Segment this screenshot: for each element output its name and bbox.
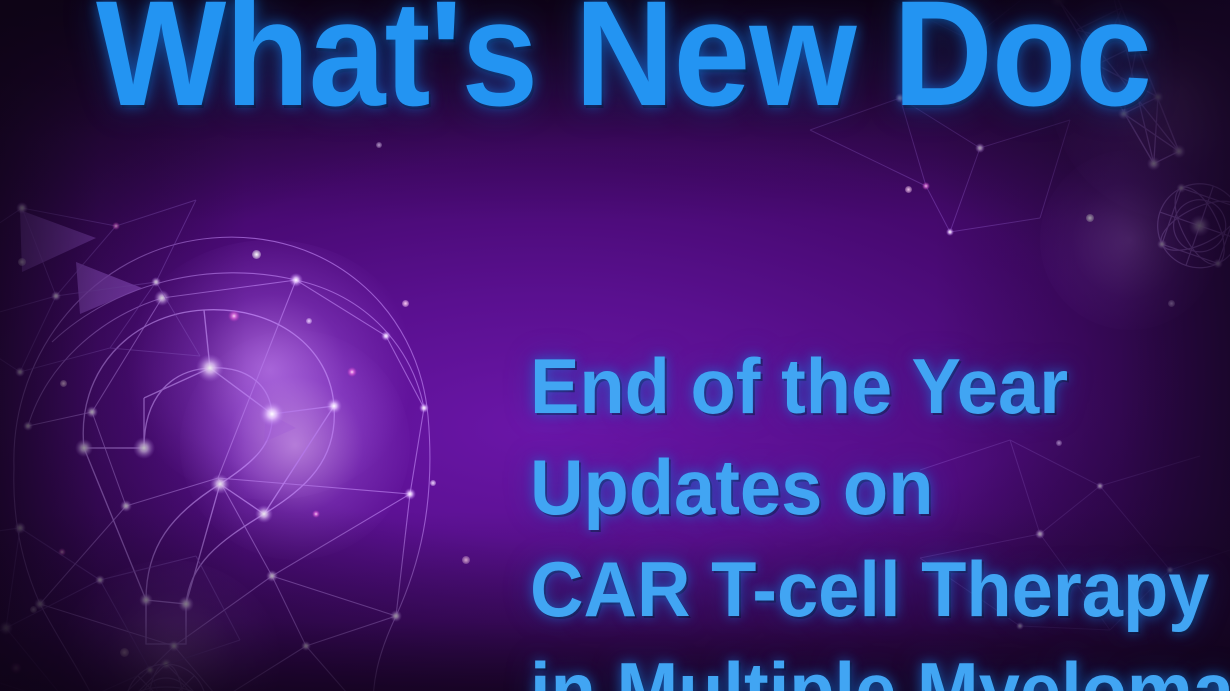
subtitle-line-1: End of the Year: [530, 336, 1230, 437]
subtitle-line-2: Updates on: [530, 437, 1230, 538]
video-title-card: What's New Doc End of the Year Updates o…: [0, 0, 1230, 691]
page-title: What's New Doc: [96, 0, 1151, 128]
subtitle-line-3: CAR T-cell Therapy: [530, 539, 1230, 640]
episode-subtitle: End of the Year Updates on CAR T-cell Th…: [530, 336, 1230, 691]
subtitle-line-4: in Multiple Myeloma: [530, 640, 1230, 691]
